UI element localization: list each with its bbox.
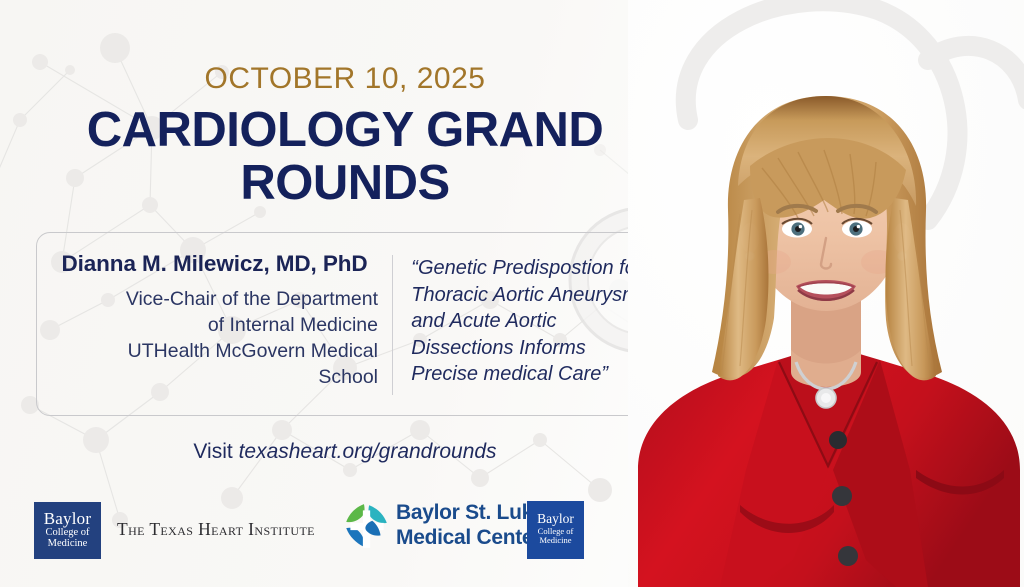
stlukes-cross-icon: [340, 500, 392, 552]
page-title: CARDIOLOGY GRAND ROUNDS: [0, 104, 690, 210]
affiliation-line-2: of Internal Medicine: [51, 312, 378, 338]
baylor-wordmark-secondary: Baylor: [537, 511, 574, 526]
speaker-details: Dianna M. Milewicz, MD, PhD Vice-Chair o…: [37, 233, 392, 415]
title-line-2: ROUNDS: [0, 157, 690, 210]
visit-label: Visit: [193, 440, 238, 463]
speaker-affiliation: Vice-Chair of the Department of Internal…: [51, 286, 378, 390]
texas-heart-institute-logo: The Texas Heart Institute: [117, 519, 315, 540]
speaker-name: Dianna M. Milewicz, MD, PhD: [51, 251, 378, 277]
website-url[interactable]: texasheart.org/grandrounds: [239, 440, 497, 463]
baylor-college-of-medicine-logo-secondary: Baylor College of Medicine: [527, 501, 584, 559]
title-line-1: CARDIOLOGY GRAND: [0, 104, 690, 157]
baylor-sub-line-2-secondary: Medicine: [527, 536, 584, 545]
speaker-info-card: Dianna M. Milewicz, MD, PhD Vice-Chair o…: [36, 232, 678, 416]
baylor-college-of-medicine-logo: Baylor College of Medicine: [34, 502, 101, 559]
affiliation-line-3: UTHealth McGovern Medical: [51, 338, 378, 364]
speaker-portrait: [628, 0, 1024, 587]
visit-website-line: Visit texasheart.org/grandrounds: [0, 440, 690, 464]
logo-strip: Baylor College of Medicine The Texas Hea…: [0, 492, 620, 572]
affiliation-line-1: Vice-Chair of the Department: [51, 286, 378, 312]
baylor-wordmark: Baylor: [44, 509, 91, 528]
affiliation-line-4: School: [51, 364, 378, 390]
grand-rounds-poster: OCTOBER 10, 2025 CARDIOLOGY GRAND ROUNDS…: [0, 0, 1024, 587]
baylor-sub-line-2: Medicine: [34, 539, 101, 550]
event-date: OCTOBER 10, 2025: [0, 62, 690, 96]
stlukes-line-2: Medical Center: [396, 526, 541, 549]
